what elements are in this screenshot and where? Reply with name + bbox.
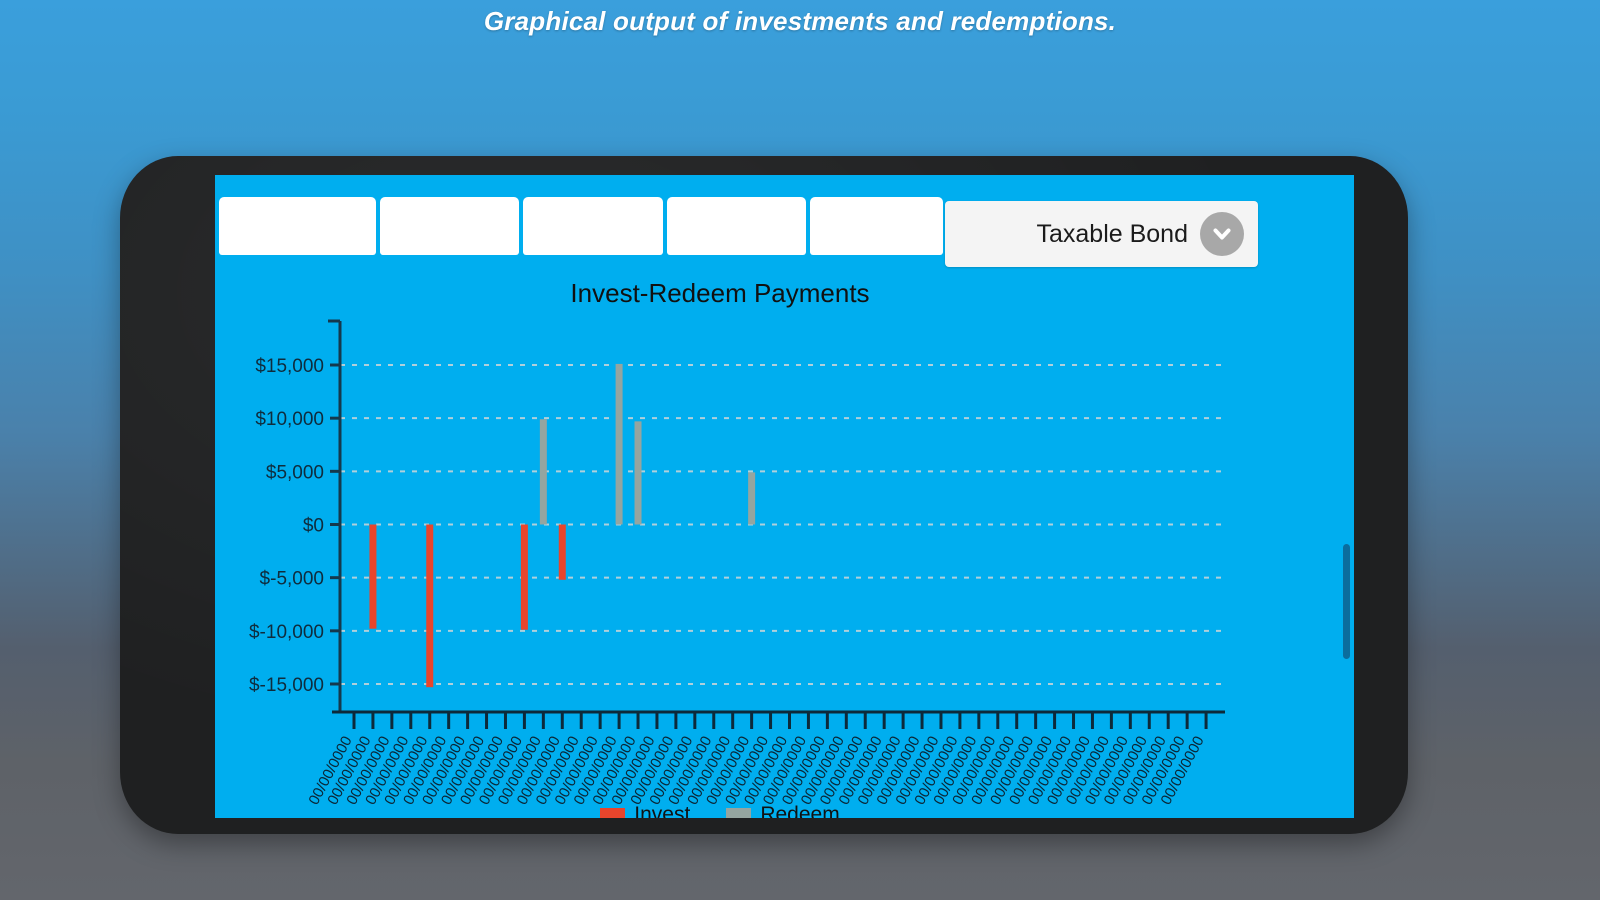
svg-text:$-10,000: $-10,000 bbox=[249, 622, 324, 643]
chart-plot-area: $15,000$10,000$5,000$0$-5,000$-10,000$-1… bbox=[215, 175, 1354, 818]
phone-screen: Taxable Bond Invest-Redeem Payments $15,… bbox=[215, 175, 1354, 818]
vertical-scrollbar-thumb[interactable] bbox=[1343, 544, 1350, 659]
legend-swatch-redeem bbox=[726, 808, 751, 819]
legend-label-redeem: Redeem bbox=[760, 803, 839, 818]
vertical-scrollbar-track[interactable] bbox=[1342, 175, 1350, 818]
legend-item-redeem: Redeem bbox=[726, 803, 839, 818]
page-caption: Graphical output of investments and rede… bbox=[0, 6, 1600, 37]
svg-text:$5,000: $5,000 bbox=[266, 462, 324, 483]
chart-legend: Invest Redeem bbox=[215, 803, 1225, 818]
svg-text:$10,000: $10,000 bbox=[255, 409, 324, 430]
svg-text:$-5,000: $-5,000 bbox=[260, 569, 324, 590]
legend-item-invest: Invest bbox=[600, 803, 690, 818]
svg-text:$0: $0 bbox=[303, 516, 324, 537]
svg-text:$-15,000: $-15,000 bbox=[249, 675, 324, 696]
phone-device-frame: Taxable Bond Invest-Redeem Payments $15,… bbox=[120, 156, 1408, 834]
svg-text:$15,000: $15,000 bbox=[255, 356, 324, 377]
legend-label-invest: Invest bbox=[634, 803, 690, 818]
legend-swatch-invest bbox=[600, 808, 625, 819]
